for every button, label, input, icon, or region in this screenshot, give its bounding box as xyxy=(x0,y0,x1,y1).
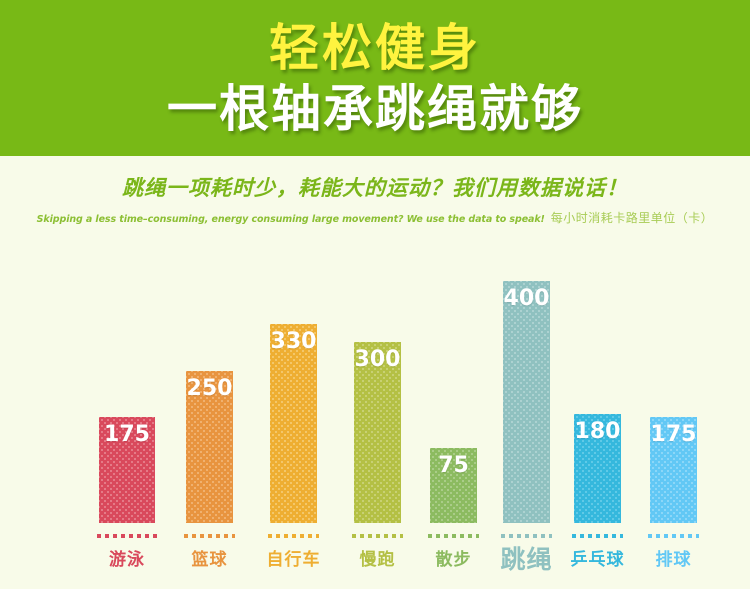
category-label-篮球: 篮球 xyxy=(168,550,251,570)
header-banner: 轻松健身 一根轴承跳绳就够 xyxy=(0,0,750,156)
baseline-dots-自行车 xyxy=(268,534,319,538)
bar-value-跳绳: 400 xyxy=(503,287,550,311)
bar-乒乓球: 180 xyxy=(574,414,621,523)
bar-value-游泳: 175 xyxy=(99,423,155,447)
subtitle-english: Skipping a less time–consuming, energy c… xyxy=(37,214,545,225)
bar-value-散步: 75 xyxy=(430,454,477,478)
baseline-dots-游泳 xyxy=(97,534,157,538)
bar-value-排球: 175 xyxy=(650,423,697,447)
baseline-dots-排球 xyxy=(648,534,699,538)
bar-游泳: 175 xyxy=(99,417,155,523)
category-label-散步: 散步 xyxy=(412,550,495,570)
category-label-游泳: 游泳 xyxy=(81,550,173,570)
bar-value-慢跑: 300 xyxy=(354,348,401,372)
bar-散步: 75 xyxy=(430,448,477,523)
chart-plot-area: 17525033030075400180175 xyxy=(0,250,750,523)
baseline-dots-跳绳 xyxy=(501,534,552,538)
header-title-line1: 轻松健身 xyxy=(269,20,481,76)
bar-篮球: 250 xyxy=(186,371,233,523)
baseline-dots-慢跑 xyxy=(352,534,403,538)
bar-慢跑: 300 xyxy=(354,342,401,523)
bar-自行车: 330 xyxy=(270,324,317,523)
subtitle-unit: 每小时消耗卡路里单位（卡） xyxy=(551,209,714,226)
category-label-自行车: 自行车 xyxy=(252,550,335,570)
subtitle-main: 跳绳一项耗时少，耗能大的运动？我们用数据说话！ xyxy=(0,172,750,202)
bar-value-篮球: 250 xyxy=(186,377,233,401)
baseline-dots-篮球 xyxy=(184,534,235,538)
bar-value-自行车: 330 xyxy=(270,330,317,354)
bar-排球: 175 xyxy=(650,417,697,523)
category-label-排球: 排球 xyxy=(632,550,715,570)
baseline-dots-散步 xyxy=(428,534,479,538)
category-label-慢跑: 慢跑 xyxy=(336,550,419,570)
bar-跳绳: 400 xyxy=(503,281,550,523)
category-label-乒乓球: 乒乓球 xyxy=(556,550,639,570)
page-root: 轻松健身 一根轴承跳绳就够 跳绳一项耗时少，耗能大的运动？我们用数据说话！ Sk… xyxy=(0,0,750,589)
subtitle-small-row: Skipping a less time–consuming, energy c… xyxy=(0,209,750,226)
baseline-dots-乒乓球 xyxy=(572,534,623,538)
subtitle-block: 跳绳一项耗时少，耗能大的运动？我们用数据说话！ Skipping a less … xyxy=(0,172,750,226)
bar-value-乒乓球: 180 xyxy=(574,420,621,444)
header-title-line2: 一根轴承跳绳就够 xyxy=(167,80,583,138)
calorie-bar-chart: 17525033030075400180175 游泳篮球自行车慢跑散步跳绳乒乓球… xyxy=(0,250,750,589)
